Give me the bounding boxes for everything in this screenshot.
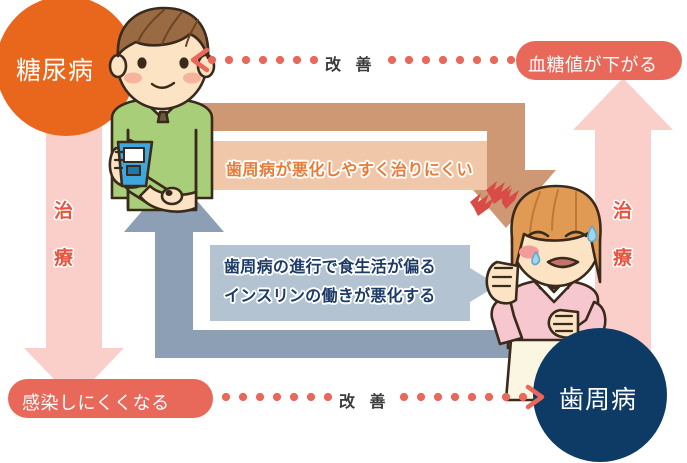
- node-diabetes-label[interactable]: 糖尿病: [16, 51, 94, 87]
- left-treatment-label-char-1: 治: [54, 196, 73, 223]
- orange-callout-text: 歯周病が悪化しやすく治りにくい: [226, 156, 473, 180]
- node-periodontitis-label[interactable]: 歯周病: [559, 380, 637, 416]
- top-arrow-label: 改 善: [325, 51, 376, 75]
- bottom-arrow-label: 改 善: [339, 388, 390, 412]
- right-treatment-label-char-2: 療: [613, 243, 632, 270]
- right-treatment-label-char-1: 治: [613, 196, 632, 223]
- infographic-canvas: 糖尿病 (points LEFT) --> 歯周病 (points RIGHT)…: [0, 0, 687, 463]
- left-treatment-label-char-2: 療: [54, 243, 73, 270]
- blue-callout-text-line-1: 歯周病の進行で食生活が偏る: [224, 255, 436, 280]
- node-less-infection-label[interactable]: 感染しにくくなる: [22, 389, 170, 415]
- blue-callout-text-line-2: インスリンの働きが悪化する: [224, 284, 436, 309]
- node-blood-sugar-label[interactable]: 血糖値が下がる: [528, 51, 658, 77]
